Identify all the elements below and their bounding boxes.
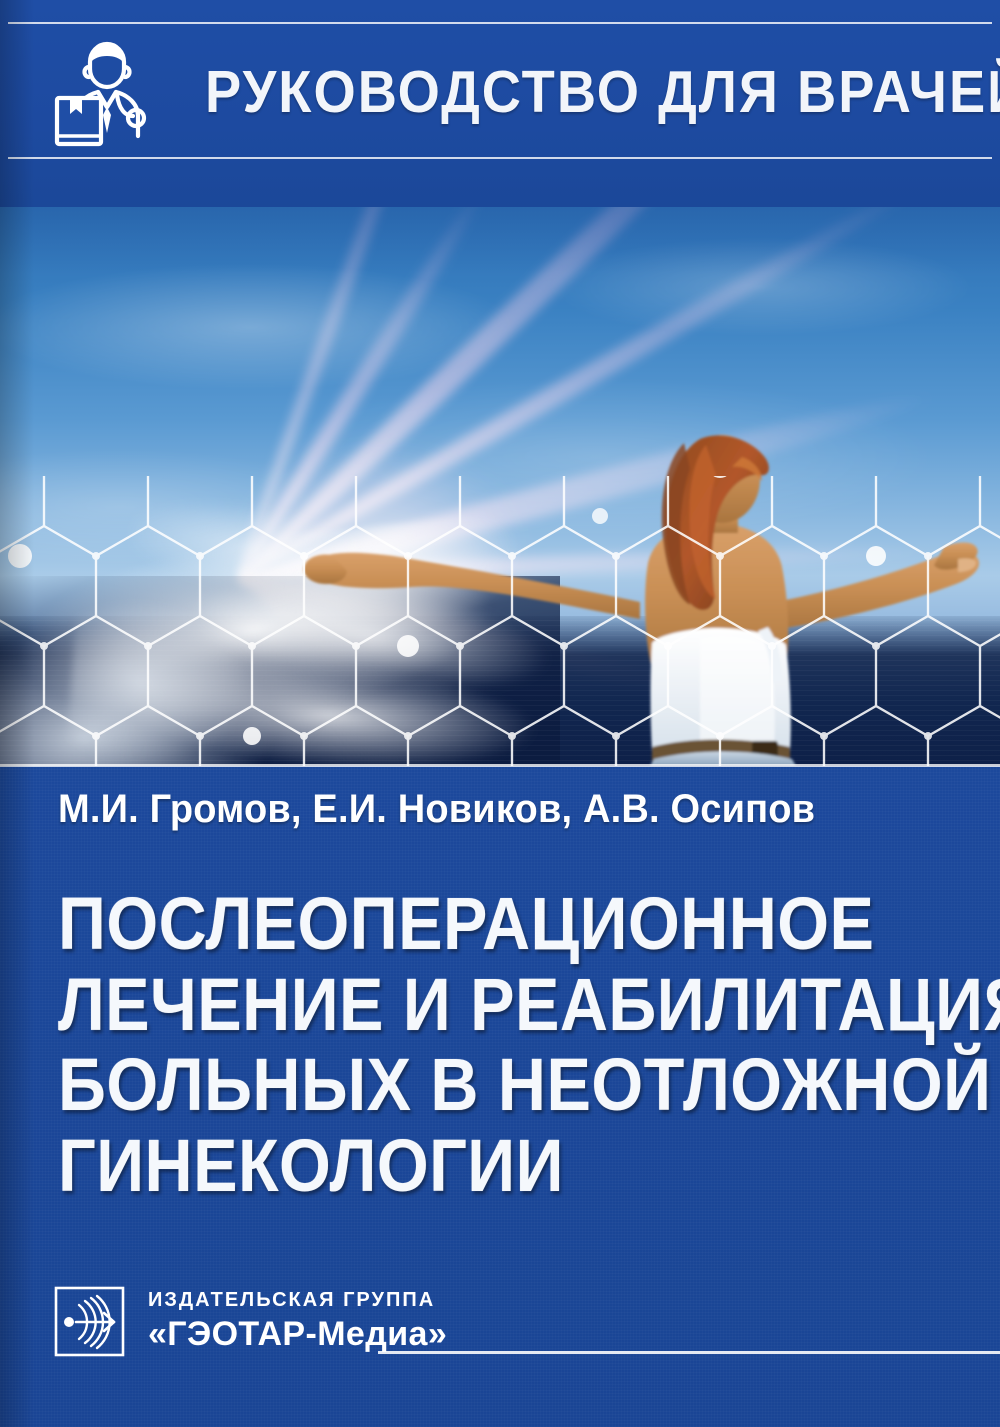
title-line-2: ЛЕЧЕНИЕ И РЕАБИЛИТАЦИЯ: [58, 965, 868, 1046]
publisher-text: ИЗДАТЕЛЬСКАЯ ГРУППА «ГЭОТАР-Медиа»: [148, 1286, 447, 1354]
title-line-3: БОЛЬНЫХ В НЕОТЛОЖНОЙ: [58, 1045, 868, 1126]
book-cover: РУКОВОДСТВО ДЛЯ ВРАЧЕЙ: [0, 0, 1000, 1427]
geotar-media-arrow-logo: [54, 1286, 125, 1357]
cover-artwork: [0, 207, 1000, 766]
series-banner-label: РУКОВОДСТВО ДЛЯ ВРАЧЕЙ: [205, 44, 849, 140]
publisher-group-label: ИЗДАТЕЛЬСКАЯ ГРУППА: [148, 1289, 447, 1312]
series-banner: РУКОВОДСТВО ДЛЯ ВРАЧЕЙ: [0, 0, 1000, 207]
photo-bottom-rule: [0, 764, 1000, 767]
publisher-rule: [378, 1351, 1000, 1354]
publisher-name: «ГЭОТАР-Медиа»: [148, 1315, 447, 1354]
banner-bottom-rule: [8, 157, 992, 159]
title-line-1: ПОСЛЕОПЕРАЦИОННОЕ: [58, 884, 868, 965]
photo-top-blend: [0, 207, 1000, 766]
author-names: М.И. Громов, Е.И. Новиков, А.В. Осипов: [58, 787, 815, 832]
banner-top-rule: [8, 22, 992, 24]
title-line-4: ГИНЕКОЛОГИИ: [58, 1126, 868, 1207]
doctor-with-book-icon: [48, 36, 166, 148]
publisher-block: ИЗДАТЕЛЬСКАЯ ГРУППА «ГЭОТАР-Медиа»: [54, 1286, 447, 1357]
book-title: ПОСЛЕОПЕРАЦИОННОЕ ЛЕЧЕНИЕ И РЕАБИЛИТАЦИЯ…: [58, 884, 958, 1207]
